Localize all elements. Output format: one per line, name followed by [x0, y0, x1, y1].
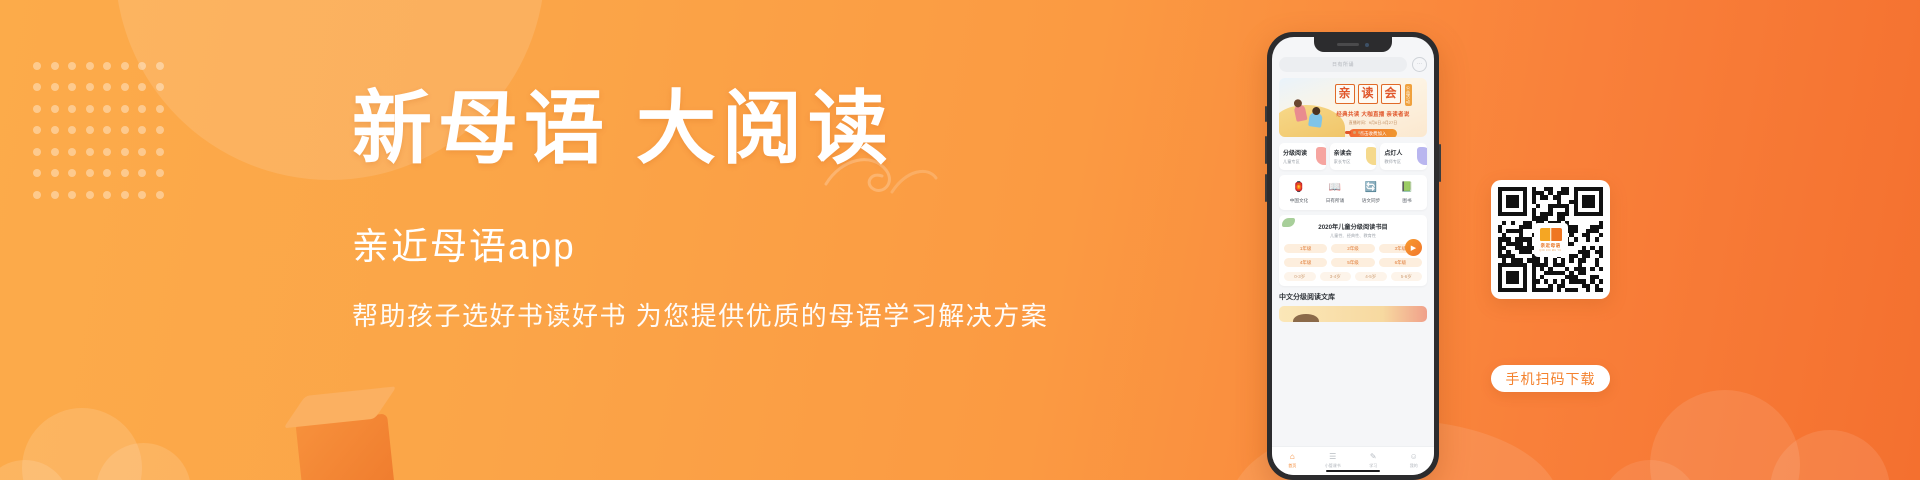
qr-code-card[interactable]: 亲近母语 QIN JIN MU YU — [1491, 180, 1610, 299]
decorative-dot — [33, 191, 41, 199]
message-icon[interactable]: ··· — [1412, 57, 1427, 72]
carousel-dots[interactable] — [1345, 131, 1361, 134]
decorative-dot — [156, 105, 164, 113]
decorative-dot — [103, 105, 111, 113]
phone-screen: 日有所诵 ··· 亲 读 会 公益活动 经典 — [1272, 37, 1434, 475]
phone-volume-up — [1265, 136, 1267, 164]
carousel-dot[interactable] — [1345, 131, 1351, 134]
open-book-icon: 📖 — [1328, 181, 1342, 195]
decorative-dot — [156, 83, 164, 91]
quick-link-label: 图书 — [1389, 198, 1425, 204]
decorative-dot — [103, 126, 111, 134]
quick-link-chinese-culture[interactable]: 🏮 中国文化 — [1281, 181, 1317, 204]
carousel-dot[interactable] — [1358, 131, 1361, 134]
app-search-row: 日有所诵 ··· — [1279, 57, 1427, 72]
decorative-dot — [103, 148, 111, 156]
decorative-dot — [33, 148, 41, 156]
decorative-dot — [68, 148, 76, 156]
decorative-dot — [156, 169, 164, 177]
earpiece-speaker — [1337, 43, 1359, 46]
hero-subtitle: 经典共读 大咖直播 亲读者说 — [1325, 110, 1421, 118]
promo-banner: 新母语 大阅读 亲近母语app 帮助孩子选好书读好书 为您提供优质的母语学习解决… — [0, 0, 1920, 480]
decorative-dot — [156, 191, 164, 199]
decorative-cloud — [1650, 390, 1800, 480]
home-icon: ⌂ — [1272, 453, 1313, 461]
grade-chip[interactable]: 4年级 — [1284, 258, 1327, 267]
tab-label: 学习 — [1353, 463, 1394, 469]
decorative-dot — [121, 191, 129, 199]
decorative-dot — [51, 148, 59, 156]
hero-title-char: 亲 — [1335, 84, 1355, 104]
quick-icon-row: 🏮 中国文化 📖 日有所诵 🔄 语文同步 📗 图书 — [1279, 175, 1427, 210]
grade-chip[interactable]: 1年级 — [1284, 244, 1327, 253]
decorative-dot — [121, 169, 129, 177]
decorative-dot — [68, 191, 76, 199]
lantern-icon: 🏮 — [1292, 181, 1306, 195]
search-placeholder: 日有所诵 — [1332, 61, 1354, 68]
category-card-graded-reading[interactable]: 分级阅读 儿童专区 — [1279, 143, 1326, 170]
decorative-dot — [86, 62, 94, 70]
refresh-icon: 🔄 — [1364, 181, 1378, 195]
decorative-dot — [33, 62, 41, 70]
book-section-subtitle: 儿童性、经典性、教育性 — [1284, 233, 1422, 239]
bookmark-icon — [1316, 147, 1326, 165]
decorative-dot — [121, 148, 129, 156]
decorative-cloud — [96, 443, 191, 480]
decorative-dot — [51, 62, 59, 70]
decorative-dot — [138, 83, 146, 91]
page-title: 新母语 大阅读 — [352, 88, 1048, 172]
bookmark-icon — [1417, 147, 1427, 165]
profile-icon: ☺ — [1394, 453, 1435, 461]
decorative-dot — [103, 169, 111, 177]
decorative-dot — [68, 105, 76, 113]
decorative-dot — [156, 148, 164, 156]
book-logo-icon — [1540, 228, 1562, 241]
tab-profile[interactable]: ☺ 我的 — [1394, 453, 1435, 469]
decorative-dot — [138, 191, 146, 199]
library-banner-image[interactable] — [1279, 306, 1427, 322]
decorative-dot — [86, 83, 94, 91]
decorative-cloud — [0, 460, 70, 480]
decorative-cloud — [22, 408, 142, 480]
phone-notch — [1314, 37, 1392, 52]
hero-illustration-child — [1308, 112, 1323, 128]
quick-link-daily-recite[interactable]: 📖 日有所诵 — [1317, 181, 1353, 204]
decorative-dot — [86, 126, 94, 134]
decorative-dot — [33, 169, 41, 177]
study-icon: ✎ — [1353, 453, 1394, 461]
book-list-section: 2020年儿童分级阅读书目 儿童性、经典性、教育性 1年级 2年级 3年级 4年… — [1279, 215, 1427, 286]
grade-chip-row-2: 4年级 5年级 6年级 — [1284, 258, 1422, 267]
book-section-title: 2020年儿童分级阅读书目 — [1284, 222, 1422, 231]
app-name-label: 亲近母语app — [352, 216, 1048, 270]
decorative-dot — [138, 126, 146, 134]
decorative-dot — [51, 105, 59, 113]
quick-link-label: 日有所诵 — [1317, 198, 1353, 204]
bookmark-icon — [1366, 147, 1376, 165]
hero-title-char: 会 — [1381, 84, 1401, 104]
phone-mockup: 日有所诵 ··· 亲 读 会 公益活动 经典 — [1267, 32, 1439, 480]
grade-chip-row-1: 1年级 2年级 3年级 — [1284, 244, 1422, 253]
decorative-dot — [86, 105, 94, 113]
decorative-dot — [33, 105, 41, 113]
phone-mute-switch — [1265, 106, 1267, 122]
decorative-dot — [156, 126, 164, 134]
phone-volume-down — [1265, 174, 1267, 202]
age-chip[interactable]: 0-3岁 — [1284, 272, 1316, 281]
decorative-dot — [51, 169, 59, 177]
quick-link-label: 中国文化 — [1281, 198, 1317, 204]
quick-link-textbook-sync[interactable]: 🔄 语文同步 — [1353, 181, 1389, 204]
age-chip[interactable]: 4-5岁 — [1355, 272, 1387, 281]
decorative-dot — [138, 105, 146, 113]
tab-home[interactable]: ⌂ 首页 — [1272, 453, 1313, 469]
decorative-dot — [156, 62, 164, 70]
decorative-dot — [68, 62, 76, 70]
qinjin-muyu-book-logo: 亲近母语 QIN JIN MU YU — [1534, 223, 1568, 257]
tab-label: 我的 — [1394, 463, 1435, 469]
download-button[interactable]: 手机扫码下载 — [1491, 365, 1610, 392]
category-card-parent-club[interactable]: 亲读会 家长专区 — [1330, 143, 1377, 170]
phone-power-button — [1439, 144, 1441, 182]
decorative-dot — [86, 169, 94, 177]
play-video-icon[interactable]: ▶ — [1405, 239, 1422, 256]
decorative-dot — [68, 83, 76, 91]
decorative-dot — [103, 191, 111, 199]
banner-tagline: 帮助孩子选好书读好书 为您提供优质的母语学习解决方案 — [352, 296, 1048, 333]
banner-text-block: 新母语 大阅读 亲近母语app 帮助孩子选好书读好书 为您提供优质的母语学习解决… — [352, 88, 1048, 333]
list-icon: ☰ — [1313, 453, 1354, 461]
tab-label: 首页 — [1272, 463, 1313, 469]
hero-date: 直播时间：9月6日-9月27日 — [1325, 120, 1421, 126]
decorative-dot — [86, 191, 94, 199]
age-chip-row: 0-3岁 3-4岁 4-5岁 5-6岁 — [1284, 272, 1422, 281]
decorative-dot — [121, 62, 129, 70]
decorative-dot — [86, 148, 94, 156]
decorative-dot — [138, 169, 146, 177]
decorative-dot-grid — [33, 62, 173, 212]
decorative-cloud — [1600, 460, 1700, 480]
quick-link-books[interactable]: 📗 图书 — [1389, 181, 1425, 204]
decorative-dot — [68, 126, 76, 134]
decorative-dot — [138, 148, 146, 156]
hero-side-tag: 公益活动 — [1405, 84, 1412, 106]
hero-title-char: 读 — [1358, 84, 1378, 104]
decorative-dot — [121, 83, 129, 91]
hero-title-blocks: 亲 读 会 公益活动 — [1325, 84, 1421, 106]
decorative-dot — [33, 126, 41, 134]
qr-cell — [1599, 288, 1603, 292]
tab-study[interactable]: ✎ 学习 — [1353, 453, 1394, 469]
hero-banner-card[interactable]: 亲 读 会 公益活动 经典共读 大咖直播 亲读者说 直播时间：9月6日-9月27… — [1279, 78, 1427, 137]
decorative-dot — [121, 126, 129, 134]
decorative-cube — [295, 413, 396, 480]
tab-label: 小管课书 — [1313, 463, 1354, 469]
age-chip[interactable]: 3-4岁 — [1320, 272, 1352, 281]
decorative-dot — [103, 62, 111, 70]
decorative-dot — [121, 105, 129, 113]
tab-courses[interactable]: ☰ 小管课书 — [1313, 453, 1354, 469]
decorative-dot — [51, 83, 59, 91]
quick-link-label: 语文同步 — [1353, 198, 1389, 204]
grade-chip[interactable]: 6年级 — [1379, 258, 1422, 267]
category-card-teacher[interactable]: 点灯人 教师专区 — [1380, 143, 1427, 170]
front-camera — [1365, 43, 1369, 47]
category-card-row: 分级阅读 儿童专区 亲读会 家长专区 点灯人 教师专区 — [1279, 143, 1427, 170]
grade-chip[interactable]: 5年级 — [1331, 258, 1374, 267]
decorative-dot — [138, 62, 146, 70]
home-indicator — [1326, 470, 1380, 473]
decorative-dot — [51, 126, 59, 134]
grade-chip[interactable]: 2年级 — [1331, 244, 1374, 253]
decorative-cloud — [1770, 430, 1890, 480]
age-chip[interactable]: 5-6岁 — [1391, 272, 1423, 281]
carousel-dot[interactable] — [1353, 131, 1356, 134]
decorative-dot — [103, 83, 111, 91]
search-input[interactable]: 日有所诵 — [1279, 57, 1407, 72]
library-section-title: 中文分级阅读文库 — [1279, 292, 1427, 302]
decorative-dot — [68, 169, 76, 177]
logo-pinyin: QIN JIN MU YU — [1539, 249, 1561, 252]
book-icon: 📗 — [1400, 181, 1414, 195]
decorative-dot — [33, 83, 41, 91]
decorative-dot — [51, 191, 59, 199]
